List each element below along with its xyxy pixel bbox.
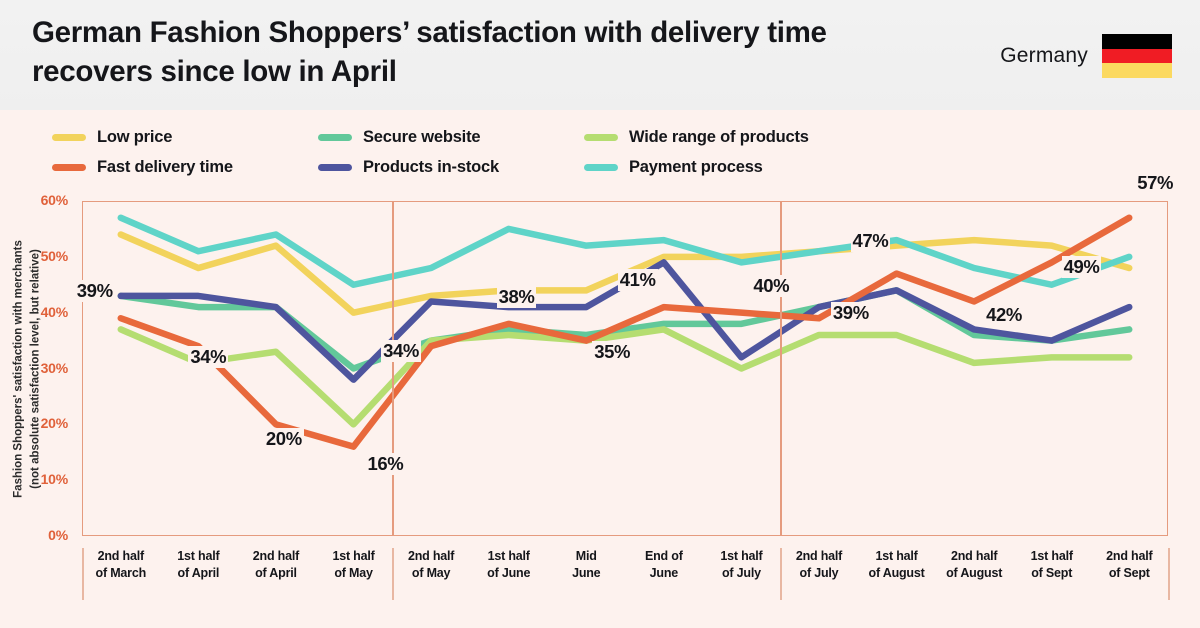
x-tick-line-1: 1st half	[470, 548, 548, 565]
x-tick-line-1: 2nd half	[935, 548, 1013, 565]
x-tick-line-2: of August	[858, 565, 936, 582]
x-tick-line-1: End of	[625, 548, 703, 565]
x-axis-tick-label: End ofJune	[625, 548, 703, 600]
legend-item-fast-delivery-time[interactable]: Fast delivery time	[52, 158, 318, 177]
legend-label: Secure website	[363, 128, 480, 147]
legend-label: Fast delivery time	[97, 158, 233, 177]
x-axis-tick-label: 1st halfof June	[470, 548, 548, 600]
data-label: 20%	[264, 428, 304, 450]
data-label: 41%	[618, 269, 658, 291]
legend-label: Low price	[97, 128, 172, 147]
data-label: 39%	[831, 302, 871, 324]
data-label: 47%	[851, 230, 891, 252]
data-label: 34%	[188, 346, 228, 368]
legend-item-payment-process[interactable]: Payment process	[584, 158, 884, 177]
header-bar: German Fashion Shoppers’ satisfaction wi…	[0, 0, 1200, 110]
x-axis-tick-label: 1st halfof April	[160, 548, 238, 600]
germany-flag	[1102, 34, 1172, 78]
x-tick-line-1: 2nd half	[237, 548, 315, 565]
x-tick-line-2: of Sept	[1091, 565, 1169, 582]
x-axis-tick-label: 2nd halfof April	[237, 548, 315, 600]
x-axis-band-divider	[1168, 548, 1170, 600]
flag-stripe-2	[1102, 63, 1172, 78]
x-tick-line-1: 1st half	[703, 548, 781, 565]
legend-swatch-icon	[52, 164, 86, 171]
data-label: 34%	[381, 340, 421, 362]
data-label: 38%	[497, 286, 537, 308]
x-axis-tick-label: 2nd halfof May	[392, 548, 470, 600]
section-divider	[780, 201, 782, 536]
x-tick-line-1: 2nd half	[1091, 548, 1169, 565]
x-tick-line-2: of July	[780, 565, 858, 582]
x-axis-band-divider	[780, 548, 782, 600]
x-tick-line-1: 1st half	[160, 548, 238, 565]
x-axis-tick-label: 1st halfof August	[858, 548, 936, 600]
x-axis-tick-label: MidJune	[547, 548, 625, 600]
data-label: 39%	[75, 280, 115, 302]
x-axis-labels: 2nd halfof March1st halfof April2nd half…	[82, 548, 1168, 600]
legend-swatch-icon	[52, 134, 86, 141]
x-tick-line-1: 2nd half	[392, 548, 470, 565]
legend-label: Payment process	[629, 158, 763, 177]
y-axis-tick-label: 20%	[22, 415, 68, 431]
legend-swatch-icon	[318, 134, 352, 141]
x-tick-line-2: of April	[237, 565, 315, 582]
data-label: 42%	[984, 304, 1024, 326]
x-tick-line-1: 1st half	[1013, 548, 1091, 565]
x-axis-tick-label: 1st halfof Sept	[1013, 548, 1091, 600]
data-label: 35%	[592, 341, 632, 363]
y-axis-tick-label: 40%	[22, 304, 68, 320]
x-tick-line-2: of Sept	[1013, 565, 1091, 582]
chart-lines-svg	[82, 201, 1168, 536]
x-tick-line-2: of May	[392, 565, 470, 582]
x-axis-band-divider	[392, 548, 394, 600]
x-tick-line-2: of July	[703, 565, 781, 582]
x-tick-line-1: 2nd half	[780, 548, 858, 565]
y-axis-tick-label: 60%	[22, 192, 68, 208]
x-tick-line-1: 1st half	[315, 548, 393, 565]
x-tick-line-2: of April	[160, 565, 238, 582]
y-axis-tick-label: 50%	[22, 248, 68, 264]
x-axis-band-divider	[82, 548, 84, 600]
x-tick-line-2: of May	[315, 565, 393, 582]
legend-swatch-icon	[584, 164, 618, 171]
x-tick-line-1: Mid	[547, 548, 625, 565]
infographic-page: German Fashion Shoppers’ satisfaction wi…	[0, 0, 1200, 628]
y-axis-tick-label: 0%	[22, 527, 68, 543]
legend-item-products-in-stock[interactable]: Products in-stock	[318, 158, 584, 177]
legend-label: Wide range of products	[629, 128, 809, 147]
data-label: 57%	[1135, 172, 1175, 194]
flag-stripe-0	[1102, 34, 1172, 49]
x-axis-tick-label: 1st halfof May	[315, 548, 393, 600]
y-axis-tick-label: 30%	[22, 360, 68, 376]
country-label: Germany	[1000, 44, 1088, 68]
x-axis-tick-label: 2nd halfof July	[780, 548, 858, 600]
legend-item-low-price[interactable]: Low price	[52, 128, 318, 147]
page-title: German Fashion Shoppers’ satisfaction wi…	[32, 14, 892, 92]
data-label: 16%	[366, 453, 406, 475]
x-axis-tick-label: 2nd halfof August	[935, 548, 1013, 600]
x-axis-tick-label: 2nd halfof Sept	[1091, 548, 1169, 600]
y-axis-tick-label: 10%	[22, 471, 68, 487]
x-tick-line-2: of August	[935, 565, 1013, 582]
x-tick-line-2: June	[625, 565, 703, 582]
x-axis-tick-label: 2nd halfof March	[82, 548, 160, 600]
x-tick-line-1: 2nd half	[82, 548, 160, 565]
x-tick-line-1: 1st half	[858, 548, 936, 565]
flag-stripe-1	[1102, 49, 1172, 64]
chart-plot-area: AfterPay INSIGHTS Fashion Shoppers are m…	[82, 201, 1168, 536]
section-divider	[392, 201, 394, 536]
legend-item-wide-range-of-products[interactable]: Wide range of products	[584, 128, 884, 147]
data-label: 40%	[751, 275, 791, 297]
x-tick-line-2: of March	[82, 565, 160, 582]
legend-item-secure-website[interactable]: Secure website	[318, 128, 584, 147]
legend-swatch-icon	[318, 164, 352, 171]
chart-legend: Low priceSecure websiteWide range of pro…	[52, 122, 952, 182]
legend-swatch-icon	[584, 134, 618, 141]
country-badge: Germany	[1000, 34, 1172, 78]
data-label: 49%	[1062, 256, 1102, 278]
x-tick-line-2: June	[547, 565, 625, 582]
x-tick-line-2: of June	[470, 565, 548, 582]
legend-label: Products in-stock	[363, 158, 499, 177]
x-axis-tick-label: 1st halfof July	[703, 548, 781, 600]
